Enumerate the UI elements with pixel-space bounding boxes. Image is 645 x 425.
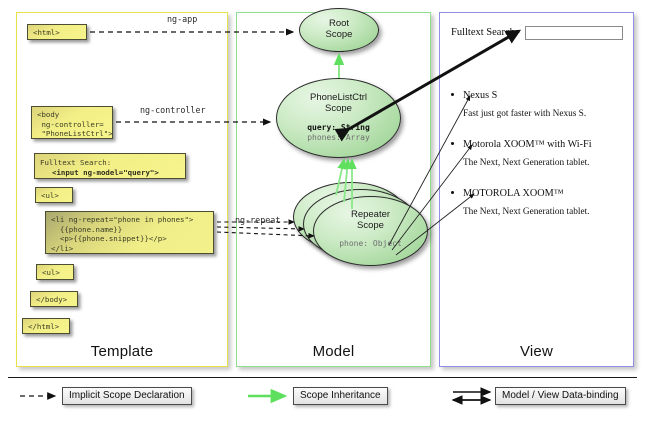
- legend-arrow-layer: [0, 0, 645, 425]
- legend-item-model-view-data-binding: Model / View Data-binding: [495, 387, 626, 405]
- legend-item-scope-inheritance: Scope Inheritance: [293, 387, 388, 405]
- legend-item-implicit-scope-declaration: Implicit Scope Declaration: [62, 387, 192, 405]
- diagram-canvas: Template Model View <html> <body ng-cont…: [0, 0, 645, 425]
